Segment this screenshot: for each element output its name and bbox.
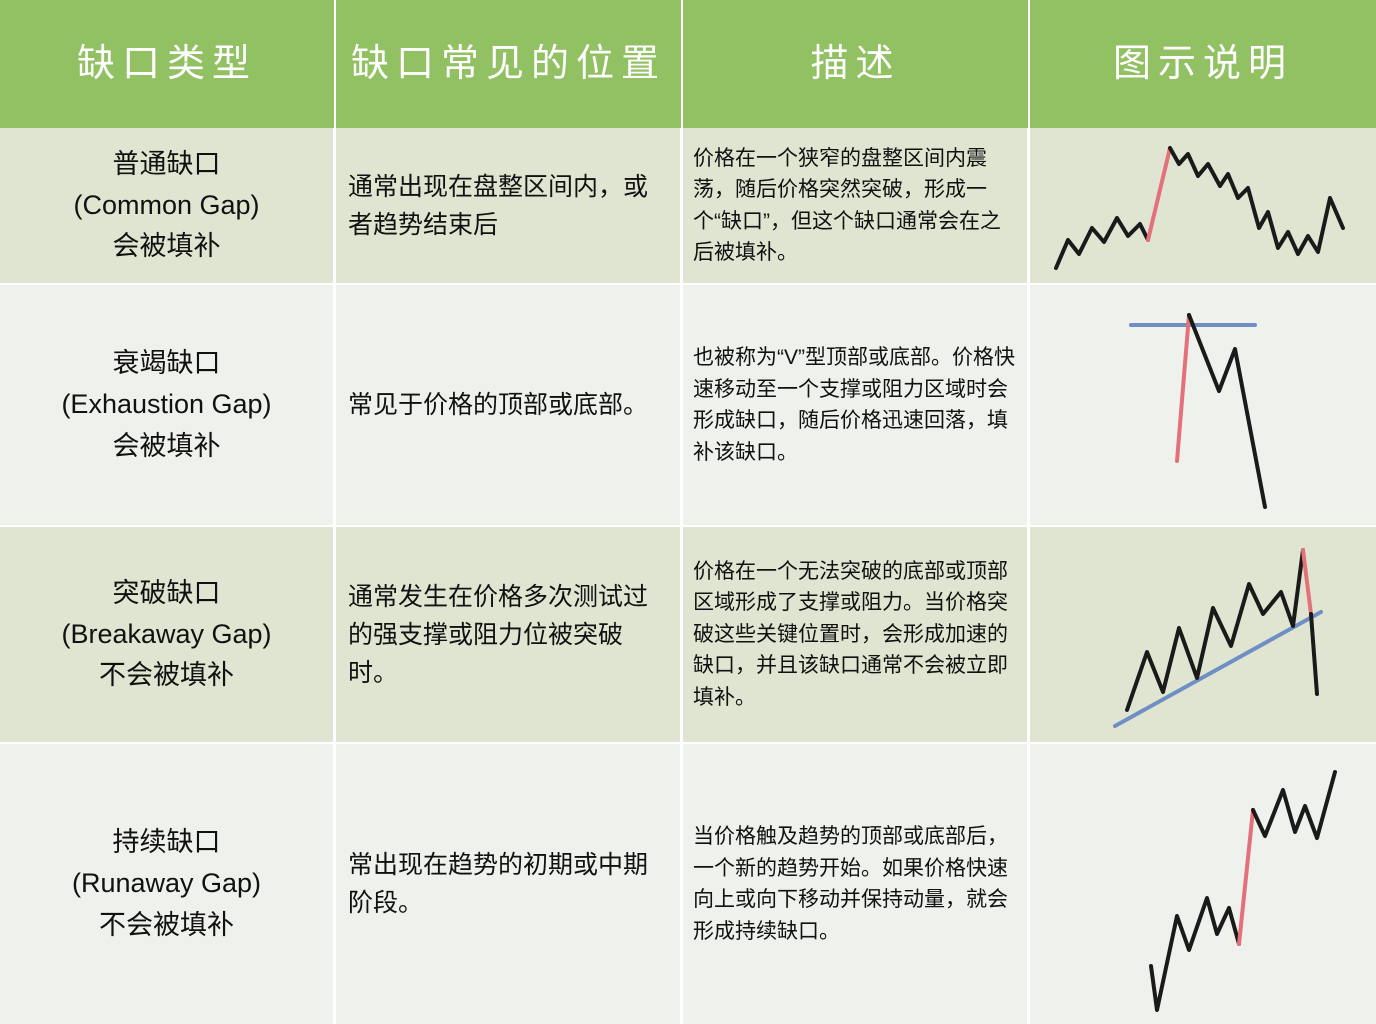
gap-type-note: 不会被填补 bbox=[6, 905, 327, 946]
table-row: 衰竭缺口 (Exhaustion Gap) 会被填补 常见于价格的顶部或底部。 … bbox=[0, 283, 1376, 525]
common-gap-chart bbox=[1030, 128, 1376, 283]
gap-line bbox=[1239, 810, 1253, 944]
table-row: 突破缺口 (Breakaway Gap) 不会被填补 通常发生在价格多次测试过的… bbox=[0, 525, 1376, 742]
header-description: 描述 bbox=[683, 0, 1030, 128]
gap-type-text: 持续缺口 (Runaway Gap) 不会被填补 bbox=[0, 822, 333, 945]
gap-type-note: 会被填补 bbox=[6, 226, 327, 267]
description-text: 价格在一个狭窄的盘整区间内震荡，随后价格突然突破，形成一个“缺口”，但这个缺口通… bbox=[683, 143, 1027, 269]
table-header-row: 缺口类型 缺口常见的位置 描述 图示说明 bbox=[0, 0, 1376, 128]
price-line-pre-gap bbox=[1151, 898, 1239, 1010]
gap-location-text: 通常发生在价格多次测试过的强支撑或阻力位被突破时。 bbox=[336, 578, 680, 692]
gap-line bbox=[1177, 315, 1189, 461]
gap-type-cn: 普通缺口 bbox=[6, 144, 327, 185]
cell-illustration bbox=[1030, 744, 1376, 1024]
runaway-gap-chart-svg bbox=[1053, 748, 1353, 1020]
gap-type-en: (Exhaustion Gap) bbox=[6, 384, 327, 425]
price-line-post-gap bbox=[1253, 772, 1335, 838]
gap-type-cn: 持续缺口 bbox=[6, 822, 327, 863]
price-line-pre-gap bbox=[1127, 550, 1303, 710]
header-illustration-label: 图示说明 bbox=[1113, 41, 1293, 87]
cell-gap-type: 普通缺口 (Common Gap) 会被填补 bbox=[0, 128, 336, 283]
breakaway-gap-chart-svg bbox=[1053, 530, 1353, 740]
table-row: 持续缺口 (Runaway Gap) 不会被填补 常出现在趋势的初期或中期阶段。… bbox=[0, 742, 1376, 1024]
cell-gap-type: 突破缺口 (Breakaway Gap) 不会被填补 bbox=[0, 527, 336, 742]
gap-line bbox=[1303, 550, 1311, 614]
cell-description: 价格在一个狭窄的盘整区间内震荡，随后价格突然突破，形成一个“缺口”，但这个缺口通… bbox=[683, 128, 1030, 283]
gap-type-cn: 突破缺口 bbox=[6, 573, 327, 614]
gap-type-text: 普通缺口 (Common Gap) 会被填补 bbox=[0, 144, 333, 267]
table-row: 普通缺口 (Common Gap) 会被填补 通常出现在盘整区间内，或者趋势结束… bbox=[0, 128, 1376, 283]
description-text: 当价格触及趋势的顶部或底部后，一个新的趋势开始。如果价格快速向上或向下移动并保持… bbox=[683, 821, 1027, 947]
cell-description: 价格在一个无法突破的底部或顶部区域形成了支撑或阻力。当价格突破这些关键位置时，会… bbox=[683, 527, 1030, 742]
gap-type-en: (Breakaway Gap) bbox=[6, 614, 327, 655]
cell-gap-location: 通常出现在盘整区间内，或者趋势结束后 bbox=[336, 128, 683, 283]
header-gap-type-label: 缺口类型 bbox=[77, 41, 257, 87]
support-trendline bbox=[1115, 612, 1321, 726]
common-gap-chart-svg bbox=[1048, 136, 1358, 276]
gap-type-text: 衰竭缺口 (Exhaustion Gap) 会被填补 bbox=[0, 343, 333, 466]
description-text: 价格在一个无法突破的底部或顶部区域形成了支撑或阻力。当价格突破这些关键位置时，会… bbox=[683, 556, 1027, 714]
header-illustration: 图示说明 bbox=[1030, 0, 1376, 128]
cell-gap-location: 常见于价格的顶部或底部。 bbox=[336, 285, 683, 525]
gap-type-cn: 衰竭缺口 bbox=[6, 343, 327, 384]
header-gap-type: 缺口类型 bbox=[0, 0, 336, 128]
header-gap-location-label: 缺口常见的位置 bbox=[351, 41, 666, 87]
cell-description: 当价格触及趋势的顶部或底部后，一个新的趋势开始。如果价格快速向上或向下移动并保持… bbox=[683, 744, 1030, 1024]
exhaustion-gap-chart-svg bbox=[1053, 289, 1353, 521]
price-line-post-gap bbox=[1170, 148, 1343, 254]
price-line-post-gap bbox=[1189, 315, 1265, 507]
gap-location-text: 常见于价格的顶部或底部。 bbox=[336, 386, 680, 424]
cell-gap-type: 衰竭缺口 (Exhaustion Gap) 会被填补 bbox=[0, 285, 336, 525]
gap-types-table: 缺口类型 缺口常见的位置 描述 图示说明 普通缺口 (Common Gap) 会… bbox=[0, 0, 1376, 1020]
gap-location-text: 常出现在趋势的初期或中期阶段。 bbox=[336, 846, 680, 922]
breakaway-gap-chart bbox=[1030, 527, 1376, 742]
gap-location-text: 通常出现在盘整区间内，或者趋势结束后 bbox=[336, 168, 680, 244]
cell-illustration bbox=[1030, 128, 1376, 283]
price-line-post-gap bbox=[1311, 614, 1317, 694]
gap-type-text: 突破缺口 (Breakaway Gap) 不会被填补 bbox=[0, 573, 333, 696]
gap-type-en: (Runaway Gap) bbox=[6, 863, 327, 904]
runaway-gap-chart bbox=[1030, 744, 1376, 1024]
exhaustion-gap-chart bbox=[1030, 285, 1376, 525]
cell-description: 也被称为“V”型顶部或底部。价格快速移动至一个支撑或阻力区域时会形成缺口，随后价… bbox=[683, 285, 1030, 525]
header-gap-location: 缺口常见的位置 bbox=[336, 0, 683, 128]
cell-gap-type: 持续缺口 (Runaway Gap) 不会被填补 bbox=[0, 744, 336, 1024]
gap-type-note: 会被填补 bbox=[6, 426, 327, 467]
header-description-label: 描述 bbox=[810, 41, 900, 87]
gap-line bbox=[1148, 148, 1170, 240]
cell-illustration bbox=[1030, 285, 1376, 525]
cell-gap-location: 通常发生在价格多次测试过的强支撑或阻力位被突破时。 bbox=[336, 527, 683, 742]
gap-type-note: 不会被填补 bbox=[6, 655, 327, 696]
description-text: 也被称为“V”型顶部或底部。价格快速移动至一个支撑或阻力区域时会形成缺口，随后价… bbox=[683, 342, 1027, 468]
cell-illustration bbox=[1030, 527, 1376, 742]
price-line-pre-gap bbox=[1056, 218, 1148, 268]
cell-gap-location: 常出现在趋势的初期或中期阶段。 bbox=[336, 744, 683, 1024]
gap-type-en: (Common Gap) bbox=[6, 185, 327, 226]
